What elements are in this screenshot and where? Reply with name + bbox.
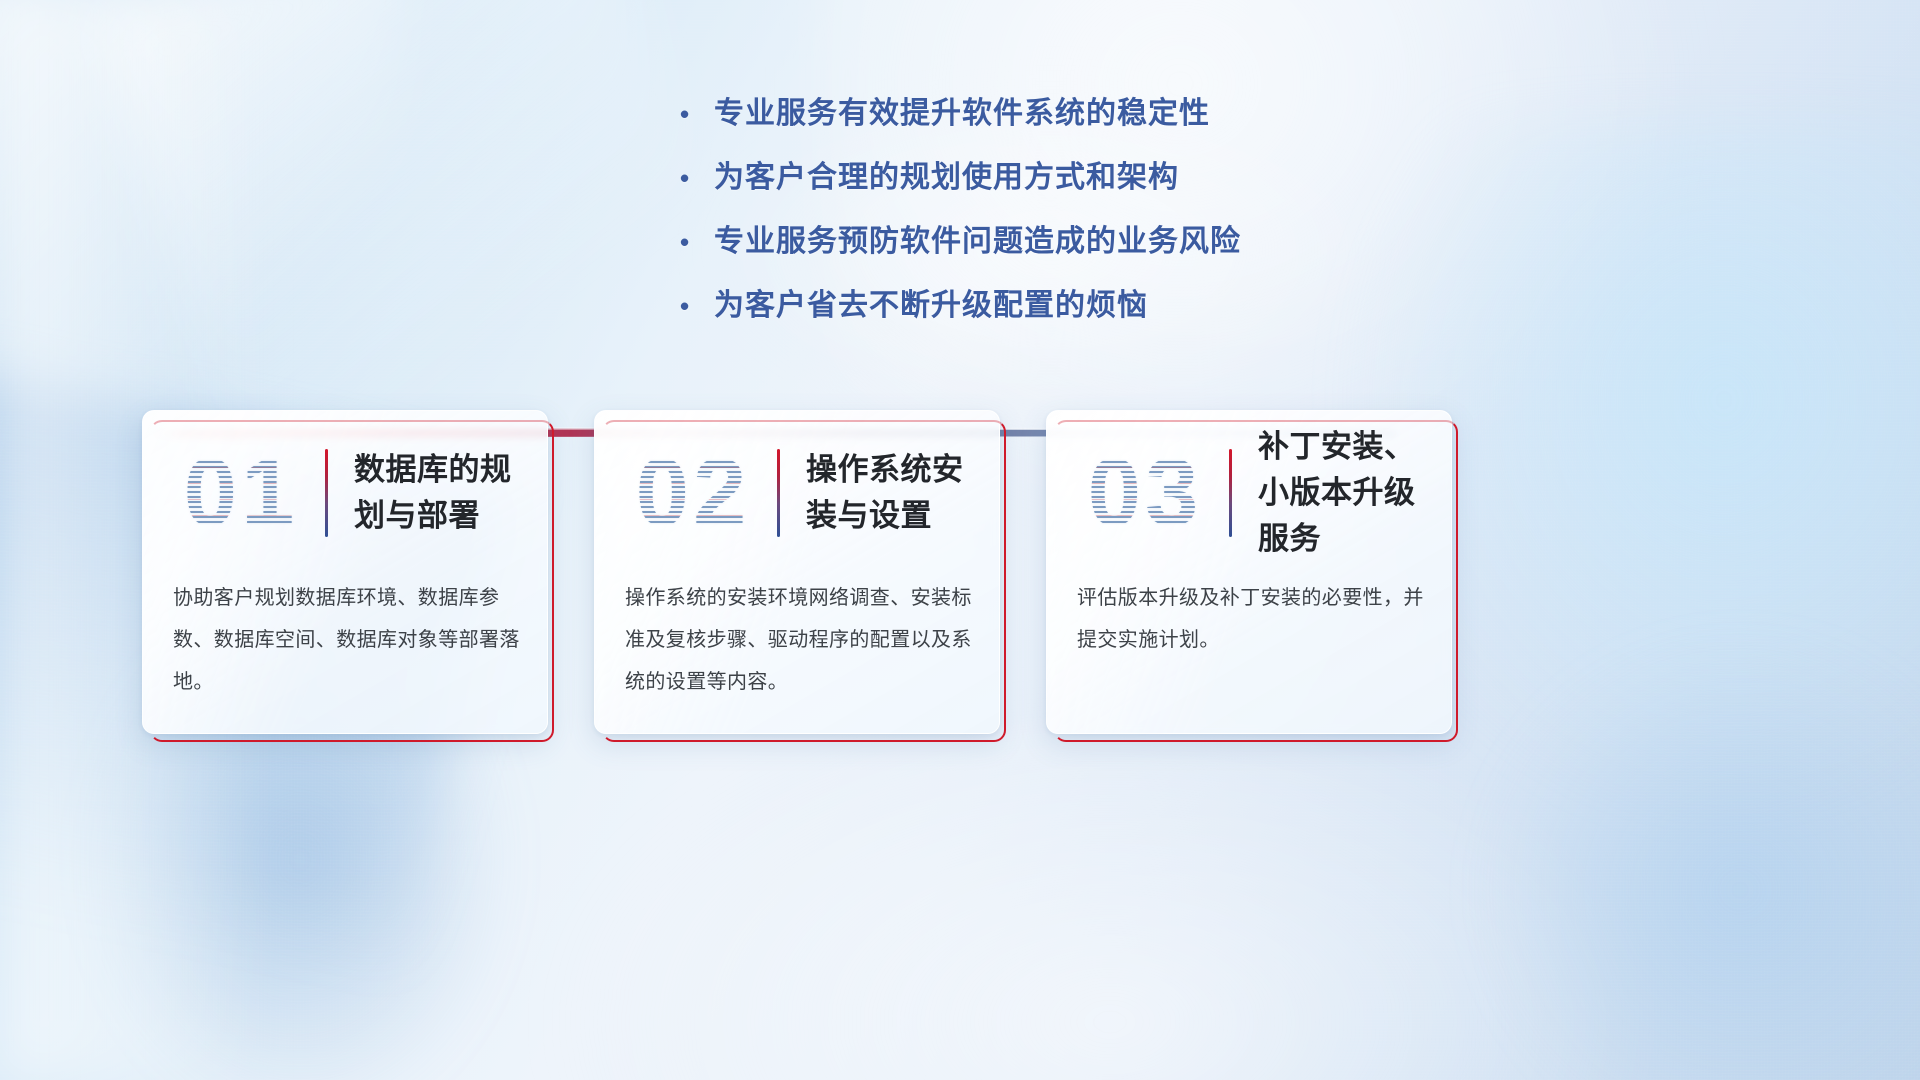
card-description: 协助客户规划数据库环境、数据库参数、数据库空间、数据库对象等部署落地。: [173, 577, 521, 703]
bullet-dot-icon: •: [680, 88, 714, 140]
service-card-row: 01 数据库的规划与部署 协助客户规划数据库环境、数据库参数、数据库空间、数据库…: [150, 420, 1460, 750]
bullet-text: 为客户合理的规划使用方式和架构: [714, 152, 1240, 204]
service-card[interactable]: 02 操作系统安装与设置 操作系统的安装环境网络调查、安装标准及复核步骤、驱动程…: [602, 420, 1006, 742]
card-number-watermark: 02: [609, 438, 777, 548]
card-description: 操作系统的安装环境网络调查、安装标准及复核步骤、驱动程序的配置以及系统的设置等内…: [625, 577, 973, 703]
card-header: 03 补丁安装、小版本升级服务: [1047, 429, 1451, 557]
card-title: 操作系统安装与设置: [806, 447, 999, 539]
card-header: 01 数据库的规划与部署: [143, 429, 547, 557]
card-description: 评估版本升级及补丁安装的必要性，并提交实施计划。: [1077, 577, 1425, 661]
benefits-bullet-list: • 专业服务有效提升软件系统的稳定性 • 为客户合理的规划使用方式和架构 • 专…: [0, 88, 1920, 344]
card-divider-bar: [777, 449, 780, 537]
bullet-dot-icon: •: [680, 216, 714, 268]
card-surface: 02 操作系统安装与设置 操作系统的安装环境网络调查、安装标准及复核步骤、驱动程…: [594, 410, 1000, 734]
card-header: 02 操作系统安装与设置: [595, 429, 999, 557]
bullet-text: 为客户省去不断升级配置的烦恼: [714, 280, 1240, 332]
list-item: • 专业服务有效提升软件系统的稳定性: [680, 88, 1240, 140]
bullet-dot-icon: •: [680, 280, 714, 332]
bullet-text: 专业服务预防软件问题造成的业务风险: [714, 216, 1241, 268]
list-item: • 为客户合理的规划使用方式和架构: [680, 152, 1240, 204]
card-number-watermark: 01: [157, 438, 325, 548]
card-divider-bar: [325, 449, 328, 537]
service-card[interactable]: 03 补丁安装、小版本升级服务 评估版本升级及补丁安装的必要性，并提交实施计划。: [1054, 420, 1458, 742]
card-number-watermark: 03: [1061, 438, 1229, 548]
list-item: • 为客户省去不断升级配置的烦恼: [680, 280, 1240, 332]
bullet-dot-icon: •: [680, 152, 714, 204]
card-title: 数据库的规划与部署: [354, 447, 547, 539]
bullet-text: 专业服务有效提升软件系统的稳定性: [714, 88, 1240, 140]
card-surface: 01 数据库的规划与部署 协助客户规划数据库环境、数据库参数、数据库空间、数据库…: [142, 410, 548, 734]
service-card[interactable]: 01 数据库的规划与部署 协助客户规划数据库环境、数据库参数、数据库空间、数据库…: [150, 420, 554, 742]
card-divider-bar: [1229, 449, 1232, 537]
list-item: • 专业服务预防软件问题造成的业务风险: [680, 216, 1240, 268]
card-title: 补丁安装、小版本升级服务: [1258, 424, 1451, 562]
card-surface: 03 补丁安装、小版本升级服务 评估版本升级及补丁安装的必要性，并提交实施计划。: [1046, 410, 1452, 734]
